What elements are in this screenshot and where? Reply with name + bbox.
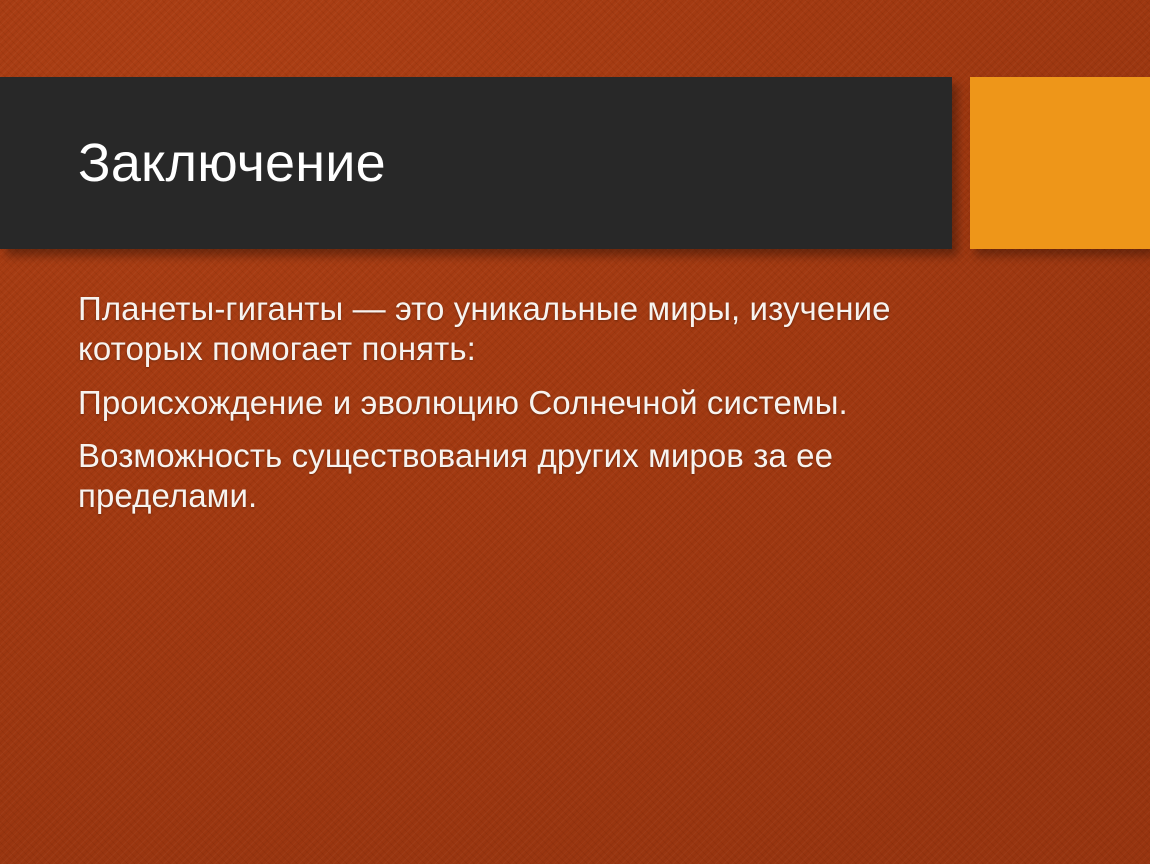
slide-body: Планеты-гиганты — это уникальные миры, и… [78,289,910,516]
accent-block-orange [970,77,1150,249]
body-paragraph-2: Происхождение и эволюцию Солнечной систе… [78,383,910,423]
title-band: Заключение [0,77,952,249]
slide-title: Заключение [0,135,386,192]
body-paragraph-3: Возможность существования других миров з… [78,436,910,517]
body-paragraph-1: Планеты-гиганты — это уникальные миры, и… [78,289,910,370]
presentation-slide: Заключение Планеты-гиганты — это уникаль… [0,0,1150,864]
